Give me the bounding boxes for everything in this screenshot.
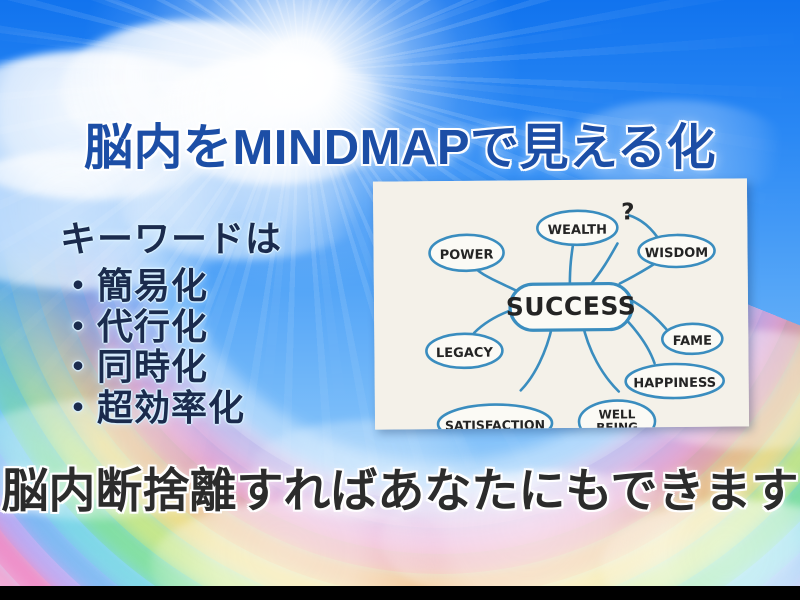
mindmap-node-wisdom: WISDOM <box>645 246 708 262</box>
keyword-heading: キーワードは <box>60 210 360 262</box>
mindmap-question-mark: ? <box>621 199 635 225</box>
mindmap-image: ? WEALTH POWER WISDOM FAME HAPPINESS WEL… <box>373 178 749 429</box>
keyword-item-3: ・同時化 <box>60 347 360 388</box>
mindmap-node-satisfaction: SATISFACTION <box>445 417 545 429</box>
mindmap-node-fame: FAME <box>673 334 712 349</box>
keyword-item-1: ・簡易化 <box>60 266 360 307</box>
slide-canvas: 脳内をMINDMAPで見える化 キーワードは ・簡易化 ・代行化 ・同時化 ・超… <box>0 0 800 600</box>
keyword-item-2: ・代行化 <box>60 307 360 348</box>
page-title: 脳内をMINDMAPで見える化 <box>0 108 800 179</box>
bottom-message: 脳内断捨離すればあなたにもできます <box>0 452 800 521</box>
bottom-letterbox-bar <box>0 586 800 600</box>
keyword-list: キーワードは ・簡易化 ・代行化 ・同時化 ・超効率化 <box>60 210 360 429</box>
keyword-item-4: ・超効率化 <box>60 388 360 429</box>
mindmap-drawing: ? WEALTH POWER WISDOM FAME HAPPINESS WEL… <box>373 178 749 429</box>
mindmap-node-success: SUCCESS <box>506 291 637 321</box>
mindmap-node-happiness: HAPPINESS <box>633 376 716 392</box>
mindmap-node-wealth: WEALTH <box>548 223 607 239</box>
mindmap-node-legacy: LEGACY <box>436 346 494 362</box>
mindmap-node-power: POWER <box>440 248 494 263</box>
